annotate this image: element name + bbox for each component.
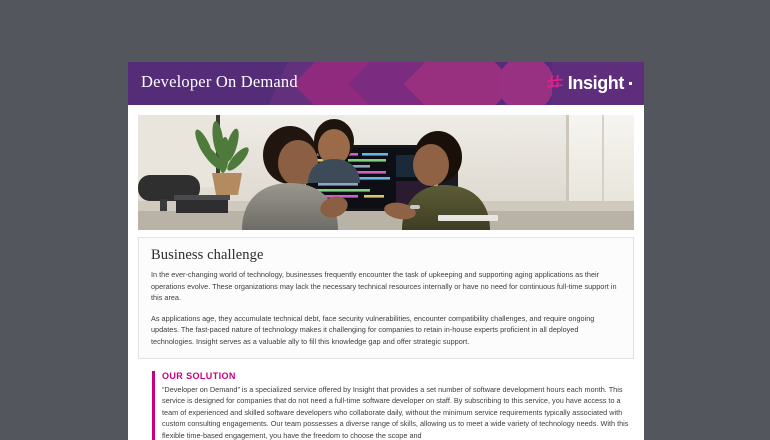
banner-shape-circle: [498, 62, 554, 105]
business-challenge-paragraph-2: As applications age, they accumulate tec…: [151, 313, 621, 348]
business-challenge-heading: Business challenge: [151, 247, 621, 264]
our-solution-section: OUR SOLUTION “Developer on Demand” is a …: [152, 371, 634, 440]
business-challenge-card: Business challenge In the ever-changing …: [138, 237, 634, 359]
hero-image: [138, 115, 634, 230]
hero-illustration: [138, 115, 634, 230]
insight-hash-logo-icon: [547, 75, 564, 92]
document-header-banner: Developer On Demand Insight: [128, 62, 644, 105]
insight-logo: Insight: [547, 71, 632, 95]
insight-logo-text: Insight: [568, 74, 624, 92]
our-solution-heading: OUR SOLUTION: [162, 371, 634, 381]
business-challenge-paragraph-1: In the ever-changing world of technology…: [151, 269, 621, 304]
our-solution-body: “Developer on Demand” is a specialized s…: [162, 384, 634, 440]
our-solution-accent-bar: [152, 371, 155, 440]
document-page: Developer On Demand Insight: [128, 62, 644, 440]
screenshot-stage: Developer On Demand Insight: [0, 0, 770, 440]
page-title: Developer On Demand: [141, 72, 298, 92]
insight-logo-dot: [629, 82, 632, 85]
